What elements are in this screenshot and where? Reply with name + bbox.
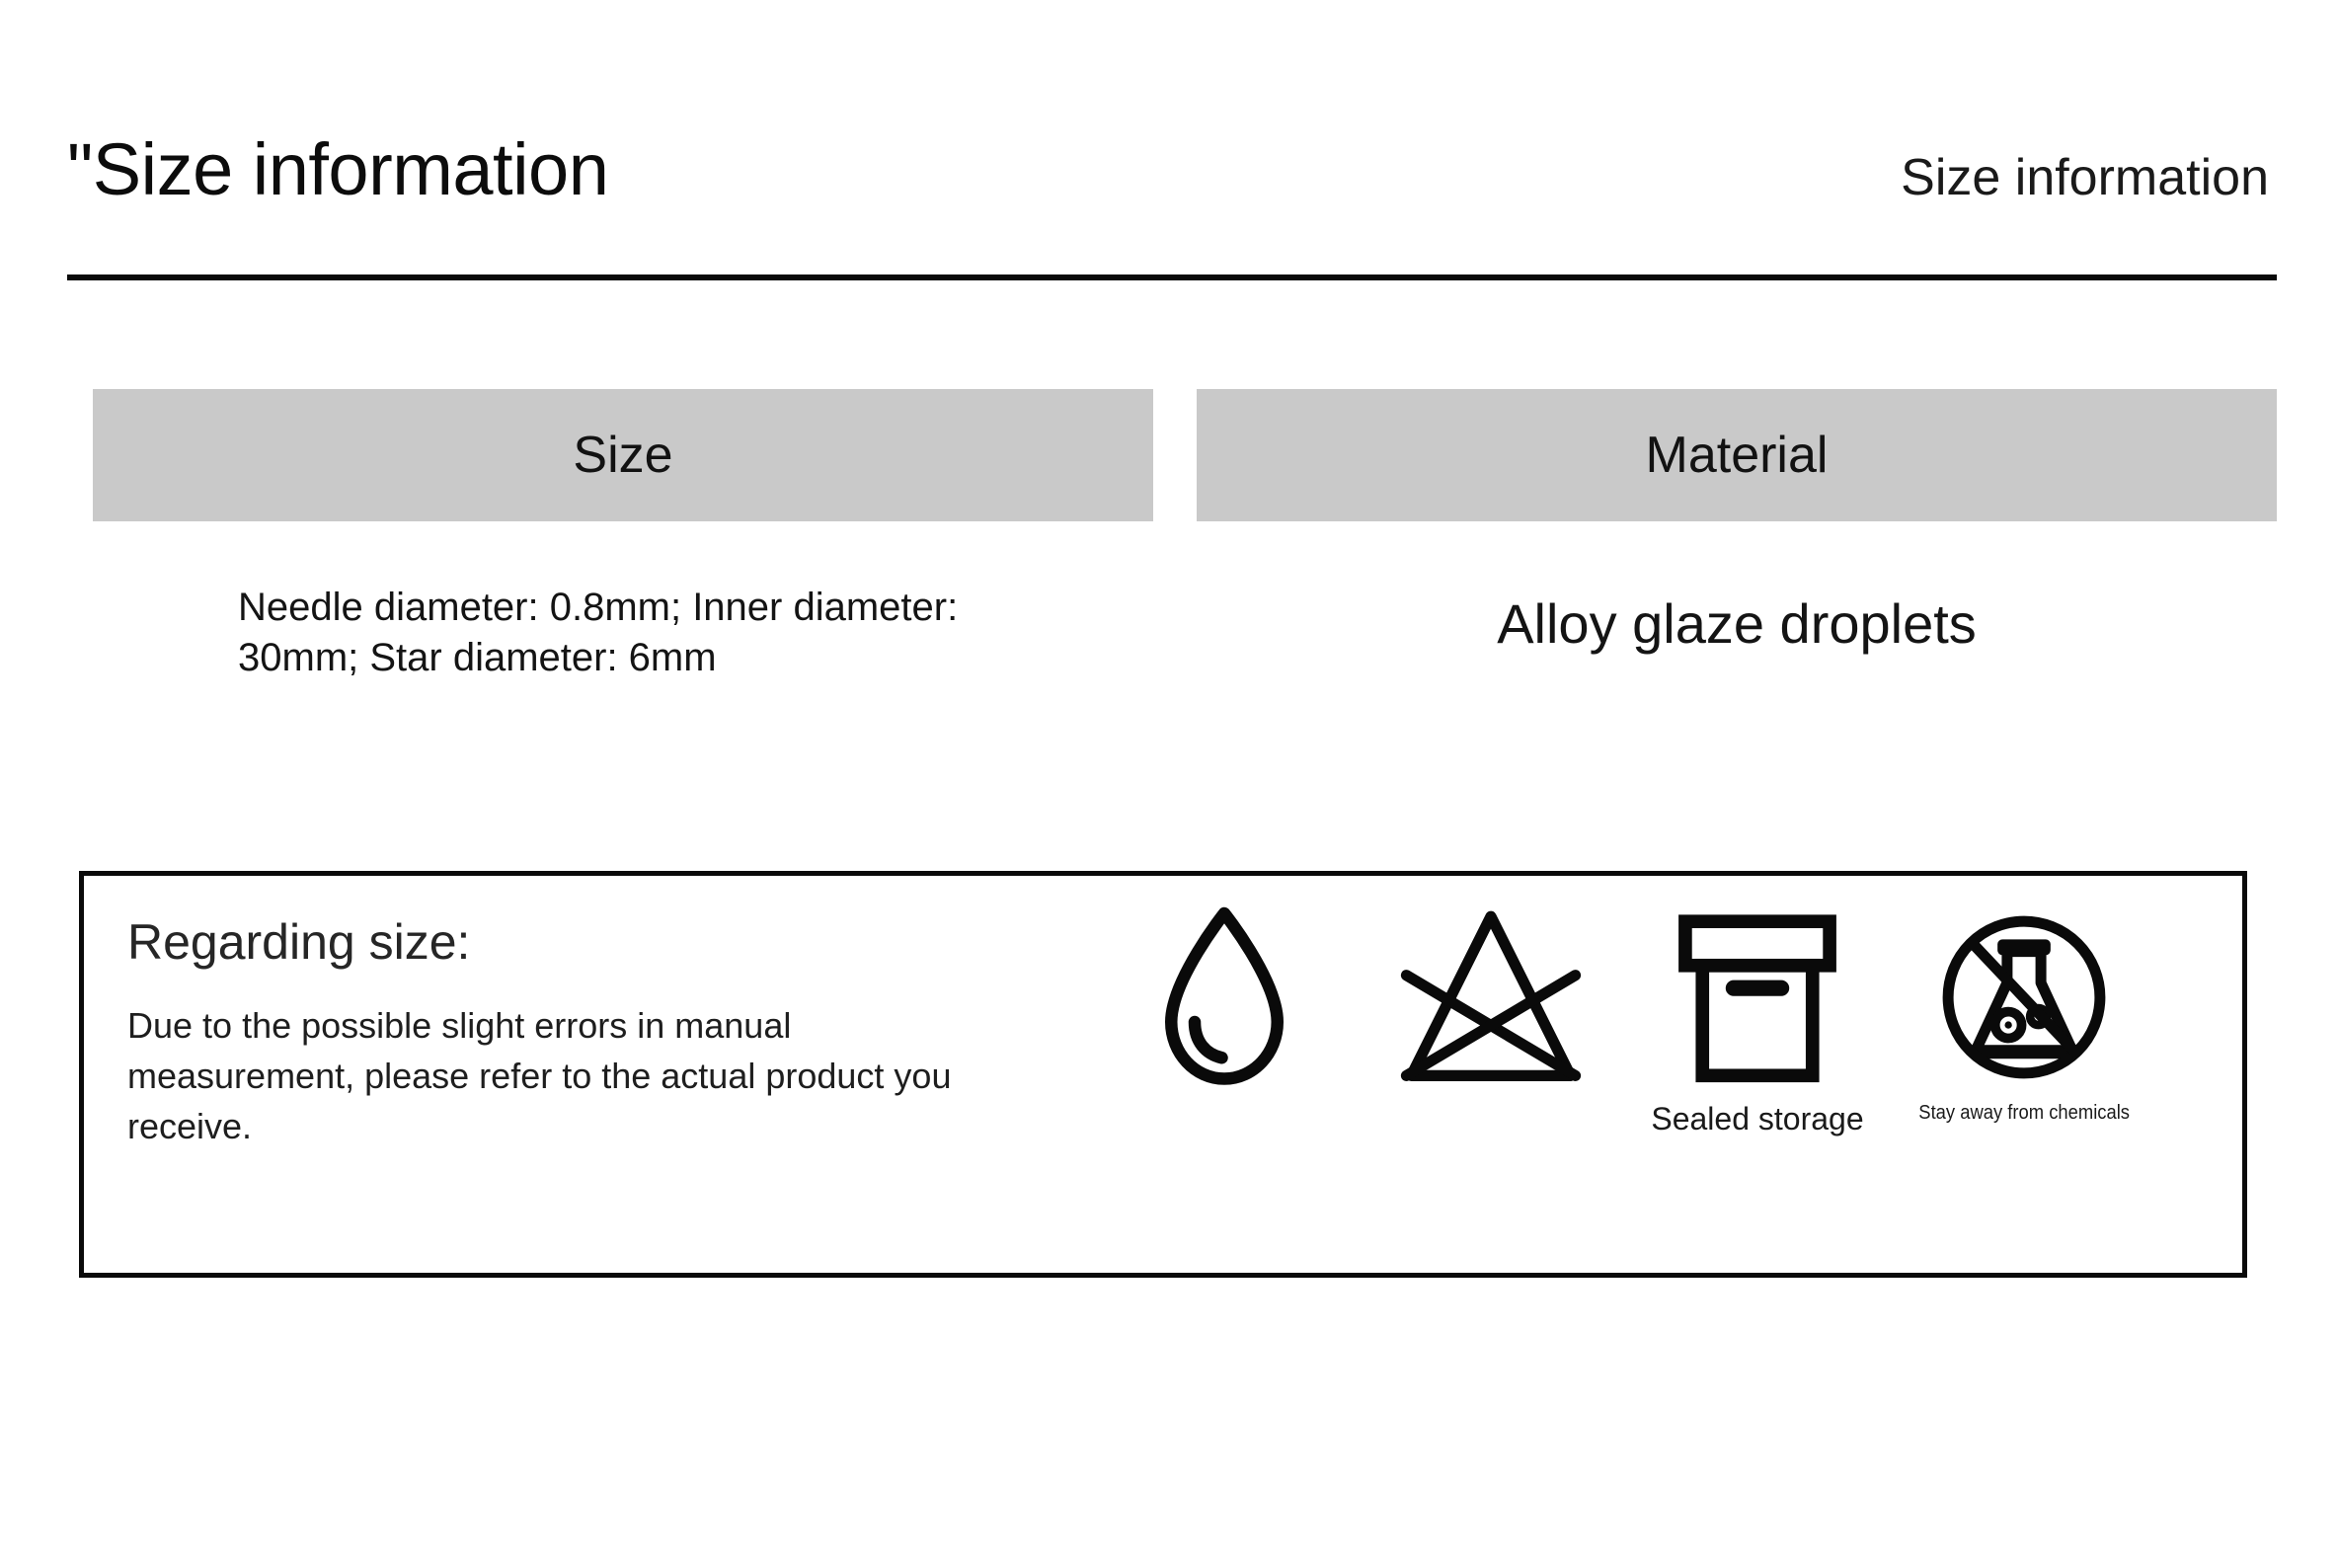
spec-table: Size Needle diameter: 0.8mm; Inner diame… (93, 389, 2277, 683)
notice-text-block: Regarding size: Due to the possible slig… (84, 876, 1091, 1151)
size-information-page: "Size information Size information Size … (0, 0, 2338, 1568)
sealed-storage-box-icon (1676, 903, 1839, 1091)
care-caption-sealed-storage: Sealed storage (1651, 1103, 1863, 1135)
spec-body-size: Needle diameter: 0.8mm; Inner diameter: … (93, 521, 1153, 683)
do-not-bleach-icon (1399, 903, 1583, 1091)
notice-heading: Regarding size: (127, 917, 1091, 967)
header-divider (67, 274, 2277, 280)
spec-header-size: Size (93, 389, 1153, 521)
spec-column-size: Size Needle diameter: 0.8mm; Inner diame… (93, 389, 1153, 683)
spec-column-material: Material Alloy glaze droplets (1197, 389, 2277, 683)
no-chemicals-icon (1942, 903, 2106, 1091)
care-item-no-chemicals: Stay away from chemicals (1891, 903, 2157, 1123)
page-subtitle: Size information (1901, 152, 2277, 203)
spec-value-material: Alloy glaze droplets (1497, 583, 1977, 657)
spec-value-size: Needle diameter: 0.8mm; Inner diameter: … (218, 583, 1028, 683)
care-icon-row: Sealed storage (1091, 876, 2242, 1135)
water-drop-icon (1150, 903, 1298, 1091)
care-item-water-drop (1091, 903, 1358, 1103)
care-item-do-not-bleach (1358, 903, 1624, 1103)
spec-header-material-label: Material (1646, 430, 1829, 481)
care-caption-no-chemicals: Stay away from chemicals (1918, 1103, 2130, 1123)
spec-header-size-label: Size (573, 430, 672, 481)
notice-body: Due to the possible slight errors in man… (127, 1000, 976, 1151)
regarding-size-notice: Regarding size: Due to the possible slig… (79, 871, 2247, 1278)
care-item-sealed-storage: Sealed storage (1624, 903, 1891, 1135)
page-title: "Size information (67, 133, 608, 206)
spec-header-material: Material (1197, 389, 2277, 521)
page-header: "Size information Size information (67, 133, 2277, 252)
spec-body-material: Alloy glaze droplets (1197, 521, 2277, 657)
